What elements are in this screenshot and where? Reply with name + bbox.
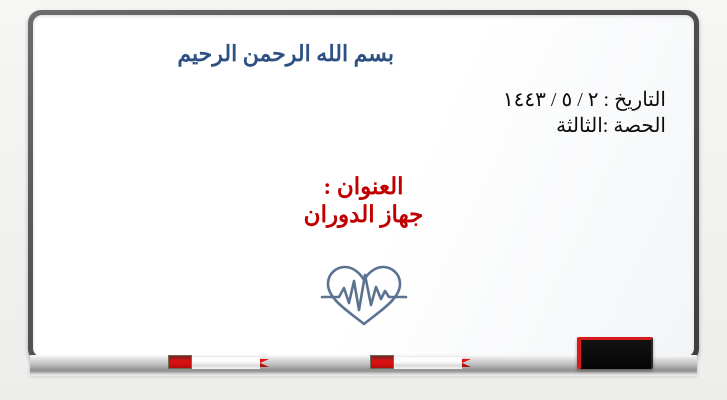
marker-nib [260, 359, 269, 367]
slide-canvas: بسم الله الرحمن الرحيم التاريخ : ٢ / ٥ /… [0, 0, 727, 400]
marker-nib [462, 359, 471, 367]
marker-cap [370, 355, 394, 369]
lesson-title-value: جهاز الدوران [33, 201, 694, 229]
whiteboard-marker[interactable] [168, 355, 272, 369]
lesson-title-block: العنوان : جهاز الدوران [33, 173, 694, 229]
whiteboard-surface: بسم الله الرحمن الرحيم التاريخ : ٢ / ٥ /… [33, 15, 694, 357]
basmala-text: بسم الله الرحمن الرحيم [177, 41, 394, 67]
whiteboard-frame: بسم الله الرحمن الرحيم التاريخ : ٢ / ٥ /… [28, 10, 699, 362]
marker-body [394, 356, 462, 369]
marker-body [192, 356, 260, 369]
lesson-title-label: العنوان : [33, 173, 694, 201]
lesson-period: الحصة :الثالثة [503, 113, 666, 139]
marker-cap [168, 355, 192, 369]
lesson-meta: التاريخ : ٢ / ٥ / ١٤٤٣ الحصة :الثالثة [503, 87, 666, 140]
whiteboard-marker[interactable] [370, 355, 474, 369]
whiteboard-eraser[interactable] [577, 337, 653, 369]
marker-tray-lip [30, 371, 697, 376]
lesson-date: التاريخ : ٢ / ٥ / ١٤٤٣ [503, 87, 666, 113]
heart-ecg-icon [318, 261, 410, 329]
